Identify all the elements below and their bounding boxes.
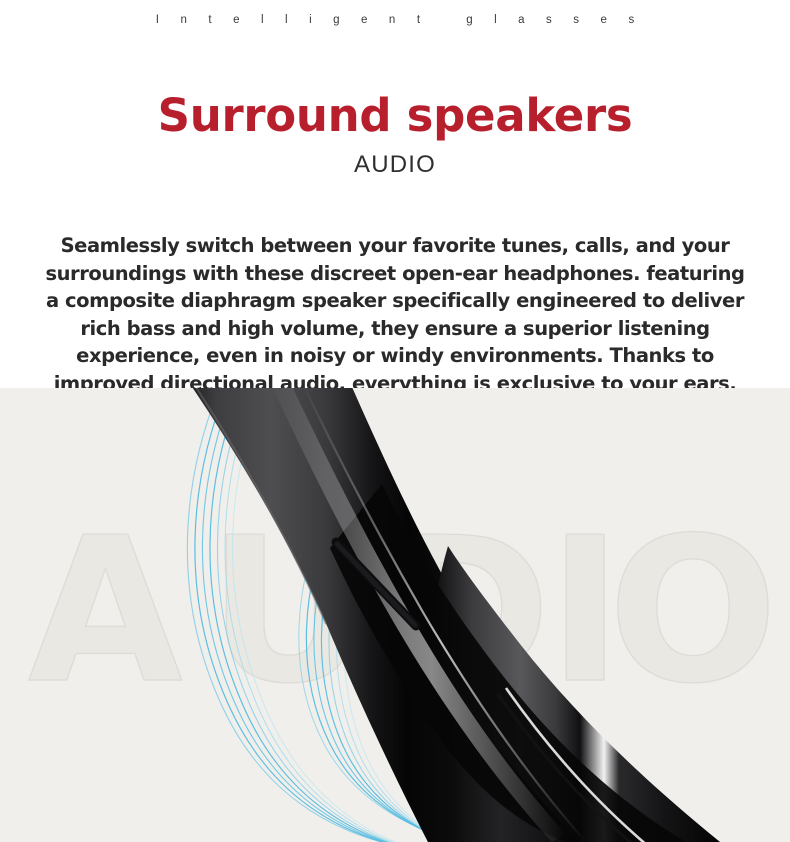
product-description: Seamlessly switch between your favorite … xyxy=(36,232,754,397)
product-detail-page: Intelligent glasses Surround speakers AU… xyxy=(0,0,790,842)
brand-eyebrow: Intelligent glasses xyxy=(0,0,790,40)
hero-image: A U D I O xyxy=(0,388,790,842)
hero-illustration: A U D I O xyxy=(0,388,790,842)
watermark-letter-o: O xyxy=(608,495,778,728)
title-block: Surround speakers AUDIO xyxy=(0,88,790,180)
page-title: Surround speakers xyxy=(0,88,790,144)
watermark-letter-a: A xyxy=(28,495,183,728)
page-subtitle: AUDIO xyxy=(0,150,790,180)
brand-eyebrow-label: Intelligent glasses xyxy=(134,14,655,26)
